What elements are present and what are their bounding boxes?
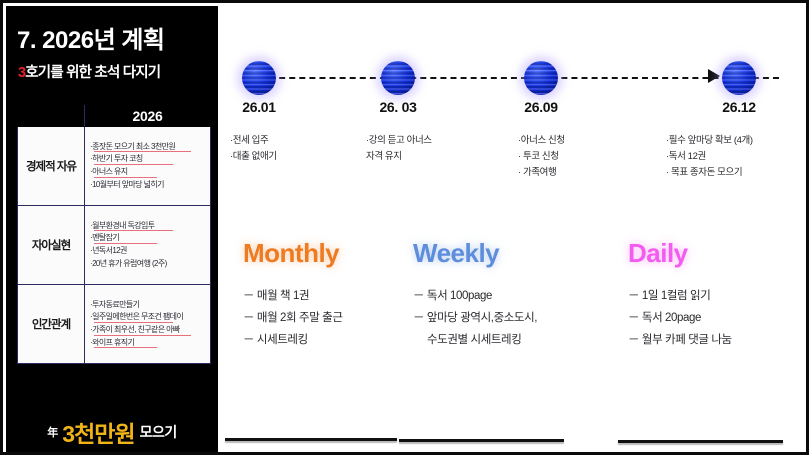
goal-banner: 年 3천만원 모으기: [6, 410, 218, 454]
list-item: － 시세트레킹: [243, 329, 343, 351]
slide-canvas: 7. 2026년 계획 3호기를 위한 초석 다지기 2026 경제적 자유 ·…: [0, 0, 809, 455]
list-item-main: － 앞마당 광역시,중소도시,: [413, 312, 537, 324]
list-item: ·필수 앞마당 확보 (4개): [666, 133, 753, 149]
list-item: ·하반기 투자 코칭: [90, 153, 207, 166]
content-area: 26.01 26. 03 26.09 26.12 ·전세 입주 ·대출 없애기 …: [218, 6, 803, 449]
timeline-node-2: [381, 61, 415, 95]
cadence-heading: Daily: [628, 238, 732, 269]
cadence-column-daily: Daily － 1일 1컬럼 읽기 － 독서 20page － 월부 카페 댓글…: [628, 238, 732, 351]
list-item: － 독서 20page: [628, 307, 732, 329]
cadence-column-monthly: Monthly － 매월 책 1권 － 매월 2회 주말 출근 － 시세트레킹: [243, 238, 343, 351]
list-item: － 월부 카페 댓글 나눔: [628, 329, 732, 351]
cadence-list: － 독서 100page － 앞마당 광역시,중소도시, 수도권별 시세트레킹: [413, 285, 537, 351]
list-item: ·전세 입주: [230, 133, 277, 149]
milestone-notes-2: ·강의 듣고 아너스 자격 유지: [366, 133, 432, 165]
table-row: 경제적 자유 ·종잣돈 모으기 최소 3천만원 ·하반기 투자 코칭 ·아너스 …: [18, 127, 211, 206]
goal-year-label: 年: [47, 424, 58, 440]
milestone-notes-4: ·필수 앞마당 확보 (4개) ·독서 12권 · 목표 종자돈 모으기: [666, 133, 753, 181]
subtitle-rest: 호기를 위한 초석 다지기: [25, 65, 160, 81]
list-item: ·20년 휴가 유럽여행 (2주): [90, 258, 207, 271]
cadence-column-weekly: Weekly － 독서 100page － 앞마당 광역시,중소도시, 수도권별…: [413, 238, 537, 351]
cadence-heading: Weekly: [413, 238, 537, 269]
table-header-year: 2026: [85, 106, 211, 127]
timeline-node-1: [242, 61, 276, 95]
list-item-sub: 수도권별 시세트레킹: [413, 329, 537, 351]
table-items: ·투자동료만들기 ·일주일에한번은 무조건 팸데이 ·가족이 최우선, 친구같은…: [85, 285, 211, 364]
list-item: · 투코 신청: [518, 149, 565, 165]
page-subtitle: 3호기를 위한 초석 다지기: [18, 61, 214, 82]
table-category: 인간관계: [18, 285, 85, 364]
footer-rule-3: [618, 440, 783, 443]
timeline-node-4: [722, 61, 756, 95]
list-item: ·대출 없애기: [230, 149, 277, 165]
milestone-notes-1: ·전세 입주 ·대출 없애기: [230, 133, 277, 165]
list-item: ·가족이 최우선, 친구같은 아빠: [90, 324, 207, 337]
table-row: 자아실현 ·월부환경내 독강임투 ·멘탈잡기 ·년독서12권 ·20년 휴가 유…: [18, 206, 211, 285]
cadence-list: － 1일 1컬럼 읽기 － 독서 20page － 월부 카페 댓글 나눔: [628, 285, 732, 351]
list-item: － 매월 2회 주말 출근: [243, 307, 343, 329]
list-item: ·년독서12권: [90, 245, 207, 258]
timeline-label-4: 26.12: [722, 99, 756, 115]
timeline-node-3: [524, 61, 558, 95]
list-item: － 1일 1컬럼 읽기: [628, 285, 732, 307]
timeline-label-2: 26. 03: [379, 99, 416, 115]
goal-tail: 모으기: [140, 422, 177, 442]
goal-amount: 3천만원: [62, 415, 134, 449]
list-item: ·아너스 신청: [518, 133, 565, 149]
list-item: ·일주일에한번은 무조건 팸데이: [90, 311, 207, 324]
goals-table: 2026 경제적 자유 ·종잣돈 모으기 최소 3천만원 ·하반기 투자 코칭 …: [17, 105, 211, 364]
list-item: ·월부환경내 독강임투: [90, 220, 207, 233]
table-header-blank: [18, 106, 85, 127]
list-item: ·멘탈잡기: [90, 232, 207, 245]
list-item: · 목표 종자돈 모으기: [666, 165, 753, 181]
table-items: ·종잣돈 모으기 최소 3천만원 ·하반기 투자 코칭 ·아너스 유지 ·10월…: [85, 127, 211, 206]
milestone-notes-3: ·아너스 신청 · 투코 신청 · 가족여행: [518, 133, 565, 181]
list-item: － 매월 책 1권: [243, 285, 343, 307]
list-item: － 앞마당 광역시,중소도시, 수도권별 시세트레킹: [413, 307, 537, 351]
list-item: ·독서 12권: [666, 149, 753, 165]
list-item: 자격 유지: [366, 149, 432, 165]
list-item: ·종잣돈 모으기 최소 3천만원: [90, 141, 207, 154]
timeline-axis: [259, 77, 779, 79]
list-item: ·아너스 유지: [90, 166, 207, 179]
table-header-row: 2026: [18, 106, 211, 127]
timeline-label-1: 26.01: [242, 99, 276, 115]
left-panel: 7. 2026년 계획 3호기를 위한 초석 다지기 2026 경제적 자유 ·…: [6, 6, 218, 455]
table-row: 인간관계 ·투자동료만들기 ·일주일에한번은 무조건 팸데이 ·가족이 최우선,…: [18, 285, 211, 364]
list-item: ·와이프 휴직기: [90, 337, 207, 350]
list-item: · 가족여행: [518, 165, 565, 181]
table-category: 경제적 자유: [18, 127, 85, 206]
footer-rule-1: [225, 438, 397, 441]
list-item: － 독서 100page: [413, 285, 537, 307]
table-items: ·월부환경내 독강임투 ·멘탈잡기 ·년독서12권 ·20년 휴가 유럽여행 (…: [85, 206, 211, 285]
timeline-label-3: 26.09: [524, 99, 558, 115]
cadence-list: － 매월 책 1권 － 매월 2회 주말 출근 － 시세트레킹: [243, 285, 343, 351]
table-category: 자아실현: [18, 206, 85, 285]
page-title: 7. 2026년 계획: [17, 20, 209, 55]
cadence-heading: Monthly: [243, 238, 343, 269]
list-item: ·투자동료만들기: [90, 299, 207, 312]
footer-rule-2: [399, 439, 564, 442]
list-item: ·10월부터 앞마당 넓히기: [90, 179, 207, 192]
list-item: ·강의 듣고 아너스: [366, 133, 432, 149]
timeline-arrow-icon: [708, 69, 720, 83]
